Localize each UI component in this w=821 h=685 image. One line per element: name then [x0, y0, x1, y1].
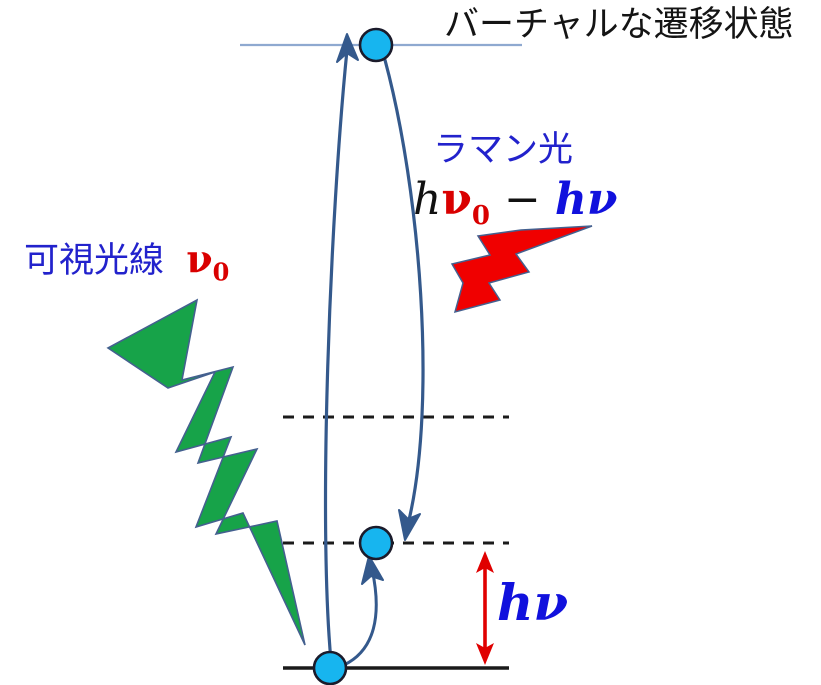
vibrational-state-marker	[360, 527, 392, 559]
visible-light-frequency-subscript: 0	[213, 258, 230, 287]
emission-transition-arrow	[385, 60, 423, 520]
excitation-transition-arrow	[326, 50, 347, 661]
virtual-transition-state-label: バーチャルな遷移状態	[444, 8, 794, 43]
ground-state-marker	[314, 652, 346, 684]
scattered-light-bolt-icon	[452, 226, 592, 312]
visible-light-text: 可視光線	[24, 241, 164, 281]
raman-energy-level-diagram: バーチャルな遷移状態 可視光線 ν0 ラマン光 hν0 − hν hν	[0, 0, 821, 685]
vibrational-relaxation-arrowhead-icon	[362, 556, 383, 584]
vibrational-relaxation-arrow	[344, 569, 376, 665]
formula-minus-operator: −	[504, 174, 541, 225]
virtual-state-marker	[360, 29, 392, 61]
visible-light-frequency-symbol: ν0	[186, 236, 229, 281]
incident-light-bolt-icon	[108, 300, 305, 645]
formula-planck-constant: h	[413, 174, 441, 225]
visible-light-label: 可視光線 ν0	[24, 240, 229, 285]
formula-incident-frequency: ν0	[441, 174, 490, 225]
raman-energy-formula: hν0 − hν	[413, 178, 617, 229]
raman-light-label: ラマン光	[433, 133, 573, 168]
formula-vibrational-energy: hν	[555, 174, 618, 225]
diagram-canvas	[0, 0, 821, 685]
vibrational-energy-gap-label: hν	[497, 578, 568, 628]
